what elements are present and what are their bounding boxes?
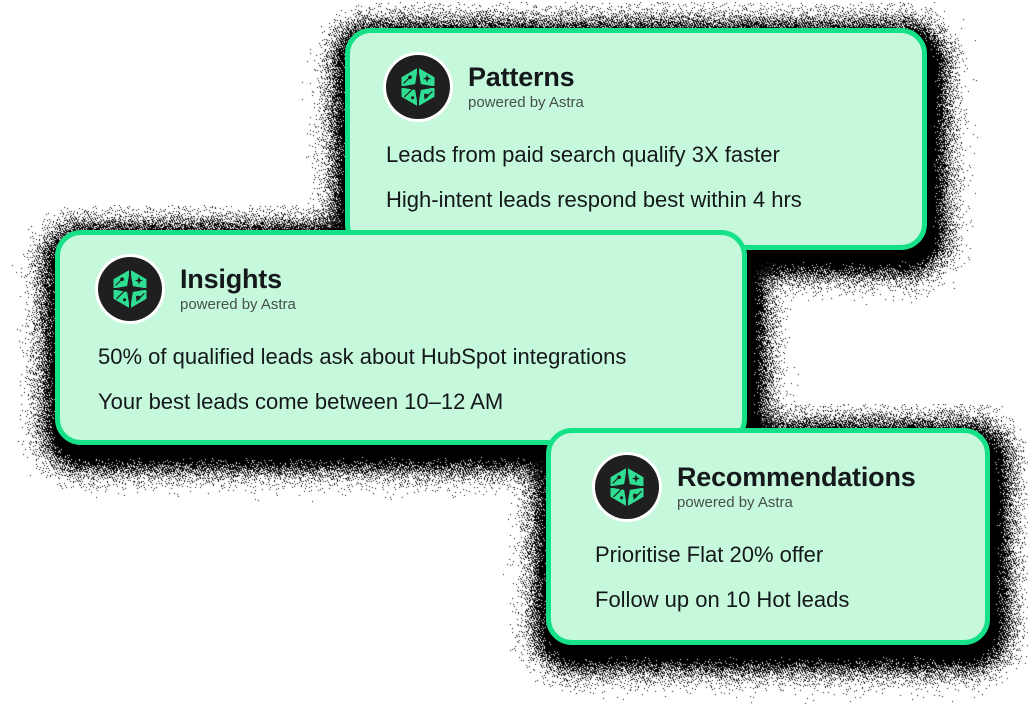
- card-line: Leads from paid search qualify 3X faster: [386, 143, 886, 168]
- card-title: Insights: [180, 265, 296, 293]
- cards-stage: Patterns powered by Astra Leads from pai…: [0, 0, 1028, 720]
- card-line: High-intent leads respond best within 4 …: [386, 188, 886, 213]
- card-line: 50% of qualified leads ask about HubSpot…: [98, 345, 706, 370]
- card-body: Leads from paid search qualify 3X faster…: [386, 143, 886, 212]
- card-line: Follow up on 10 Hot leads: [595, 588, 949, 613]
- card-subtitle: powered by Astra: [180, 297, 296, 313]
- card-header-text: Recommendations powered by Astra: [677, 463, 916, 510]
- card-header: Insights powered by Astra: [98, 257, 706, 321]
- astra-hexagon-sparkle-icon: [98, 257, 162, 321]
- card-header-text: Patterns powered by Astra: [468, 63, 584, 110]
- astra-hexagon-sparkle-icon: [595, 455, 659, 519]
- card-header: Patterns powered by Astra: [386, 55, 886, 119]
- card-body: 50% of qualified leads ask about HubSpot…: [98, 345, 706, 414]
- card-header: Recommendations powered by Astra: [595, 455, 949, 519]
- card-body: Prioritise Flat 20% offer Follow up on 1…: [595, 543, 949, 612]
- card-recommendations[interactable]: Recommendations powered by Astra Priorit…: [546, 428, 990, 645]
- card-title: Patterns: [468, 63, 584, 91]
- card-line: Your best leads come between 10–12 AM: [98, 390, 706, 415]
- card-subtitle: powered by Astra: [468, 95, 584, 111]
- card-patterns[interactable]: Patterns powered by Astra Leads from pai…: [345, 28, 927, 250]
- card-title: Recommendations: [677, 463, 916, 491]
- astra-hexagon-sparkle-icon: [386, 55, 450, 119]
- card-line: Prioritise Flat 20% offer: [595, 543, 949, 568]
- card-insights[interactable]: Insights powered by Astra 50% of qualifi…: [55, 230, 747, 445]
- card-subtitle: powered by Astra: [677, 495, 916, 511]
- card-header-text: Insights powered by Astra: [180, 265, 296, 312]
